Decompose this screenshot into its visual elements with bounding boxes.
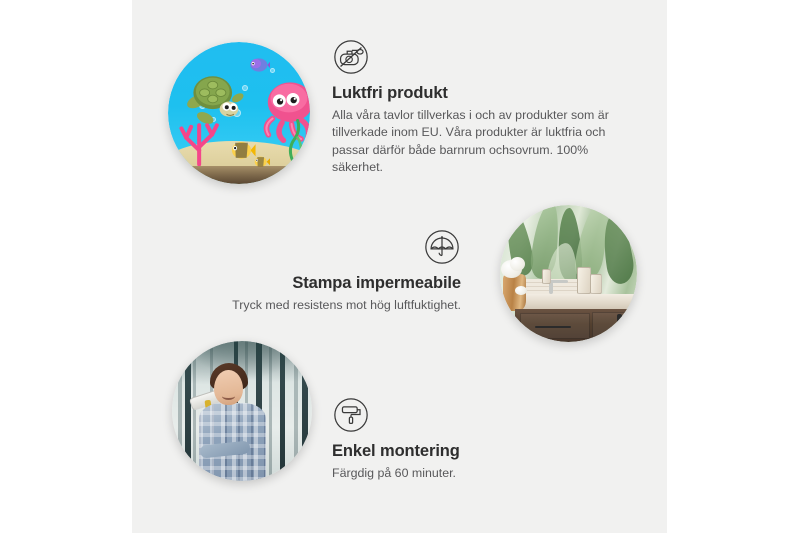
- feature-description: Alla våra tavlor tillverkas i och av pro…: [332, 107, 620, 177]
- feature-waterproof: Stampa impermeabile Tryck med resistens …: [199, 228, 461, 314]
- feature-odourless: Luktfri produkt Alla våra tavlor tillver…: [332, 38, 620, 177]
- feature-title: Stampa impermeabile: [199, 273, 461, 294]
- feature-mounting: Enkel montering Färgdig på 60 minuter.: [332, 396, 562, 482]
- feature-title: Enkel montering: [332, 441, 562, 462]
- feature-graphic: Luktfri produkt Alla våra tavlor tillver…: [0, 0, 800, 533]
- underwater-cartoon-photo: [168, 42, 310, 184]
- feature-description: Färgdig på 60 minuter.: [332, 465, 562, 483]
- paint-roller-icon: [332, 396, 370, 434]
- umbrella-icon: [423, 228, 461, 266]
- feature-description: Tryck med resistens mot hög luftfuktighe…: [199, 297, 461, 315]
- no-odour-spray-bottle-icon: [332, 38, 370, 76]
- feature-title: Luktfri produkt: [332, 83, 620, 104]
- bathroom-interior-photo: [500, 205, 637, 342]
- woman-with-paint-roller-photo: [172, 341, 312, 481]
